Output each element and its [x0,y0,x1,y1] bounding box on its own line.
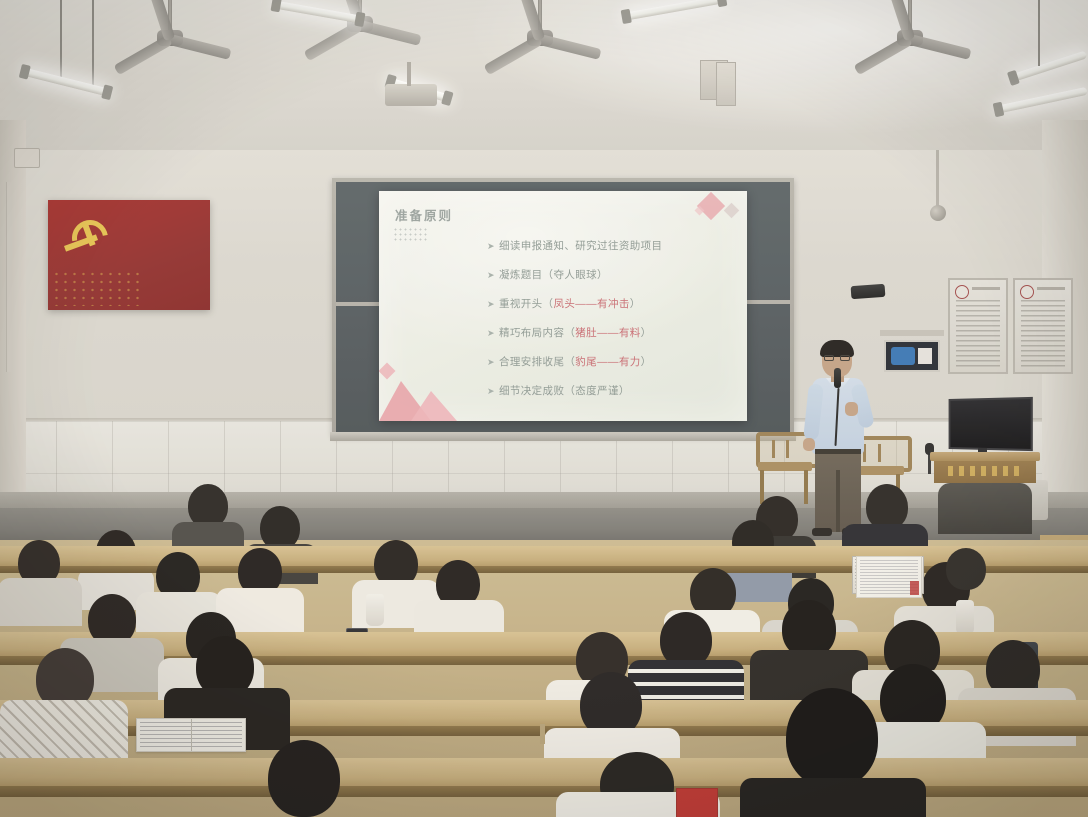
communist-party-flag [48,200,210,310]
wall-vent [716,62,736,106]
bench-gap [540,724,545,744]
slide-title: 准备原则 [395,205,453,224]
audience-head [786,688,878,788]
hammer-and-sickle-icon [64,218,110,256]
slide-bullet: ➤精巧布局内容（猪肚——有料） [487,328,737,339]
ceiling-projector [385,84,437,106]
printed-document [676,788,718,817]
slide-bullet-list: ➤细读申报通知、研究过往资助项目 ➤凝炼题目（夺人眼球） ➤重视开头（凤头——有… [487,241,737,415]
open-notebook [136,718,246,752]
audience-body [740,778,926,817]
audience-head [946,548,986,590]
lectern [930,452,1040,534]
bullet-arrow-icon: ➤ [487,270,495,280]
water-bottle [956,600,974,634]
display-shelf [880,330,944,336]
lectern-nameplate [948,466,1022,476]
bullet-arrow-icon: ➤ [487,328,495,338]
audience-head [268,740,340,817]
slide-bullet-text: 精巧布局内容（猪肚——有料） [499,327,652,339]
presenter-hand [803,438,815,451]
paper-cup [366,594,384,626]
display-content [918,348,932,364]
decorative-dot-pattern [393,227,427,241]
light-hanger [1038,0,1040,66]
bullet-arrow-icon: ➤ [487,386,495,396]
seal-icon [955,285,969,299]
slide-bullet-text: 细节决定成败（态度严谨） [499,385,630,397]
bullet-arrow-icon: ➤ [487,299,495,309]
eyeglasses-icon [824,355,850,361]
chalk-tray [330,432,796,441]
blackboard-seam [745,300,790,304]
wall-socket [14,148,40,168]
notice-text-lines [956,300,1000,367]
slide-bullet: ➤细读申报通知、研究过往资助项目 [487,241,737,252]
projection-screen: 准备原则 ➤细读申报通知、研究过往资助项目 ➤凝炼题目（夺人眼球） ➤重视开头（… [379,191,747,421]
slide-bullet: ➤凝炼题目（夺人眼球） [487,270,737,281]
seal-icon [1020,285,1034,299]
slide-bullet-text: 细读申报通知、研究过往资助项目 [499,240,663,252]
light-hanger [92,0,94,88]
slide-bullet-text: 重视开头（凤头——有冲击） [499,298,641,310]
slide-bullet-text: 合理安排收尾（豹尾——有力） [499,356,652,368]
flag-sparkle-pattern [52,270,142,306]
slide-bullet: ➤重视开头（凤头——有冲击） [487,299,737,310]
printed-document [856,556,922,598]
ceiling-fan [840,0,980,80]
decorative-mountain-icon [411,391,457,421]
wall-mounted-display [884,340,940,372]
slide-bullet: ➤合理安排收尾（豹尾——有力） [487,357,737,368]
blackboard-seam [336,302,382,306]
notice-title-line [1037,287,1065,290]
wall-speaker [851,284,886,299]
notice-board [1013,278,1073,374]
lecture-hall-photo: 准备原则 ➤细读申报通知、研究过往资助项目 ➤凝炼题目（夺人眼球） ➤重视开头（… [0,0,1088,817]
light-hanger [60,0,62,78]
desk-surface [0,758,1088,786]
ceiling-fan [100,0,240,80]
notice-title-line [972,287,1000,290]
handheld-microphone [834,368,841,388]
presenter-hand [845,402,858,416]
audience-body [0,578,82,626]
bullet-arrow-icon: ➤ [487,241,495,251]
bullet-arrow-icon: ➤ [487,357,495,367]
notice-board [948,278,1008,374]
security-camera-icon [930,205,946,221]
notice-text-lines [1021,300,1065,367]
ceiling-fan [470,0,610,80]
slide-bullet-text: 凝炼题目（夺人眼球） [499,269,608,281]
display-content [891,347,915,365]
slide-bullet: ➤细节决定成败（态度严谨） [487,386,737,397]
audience-body [0,700,128,764]
wall-cable-strip [6,182,12,372]
left-wall [0,120,26,520]
podium-monitor [949,397,1033,451]
camera-mount-arm [936,150,939,208]
